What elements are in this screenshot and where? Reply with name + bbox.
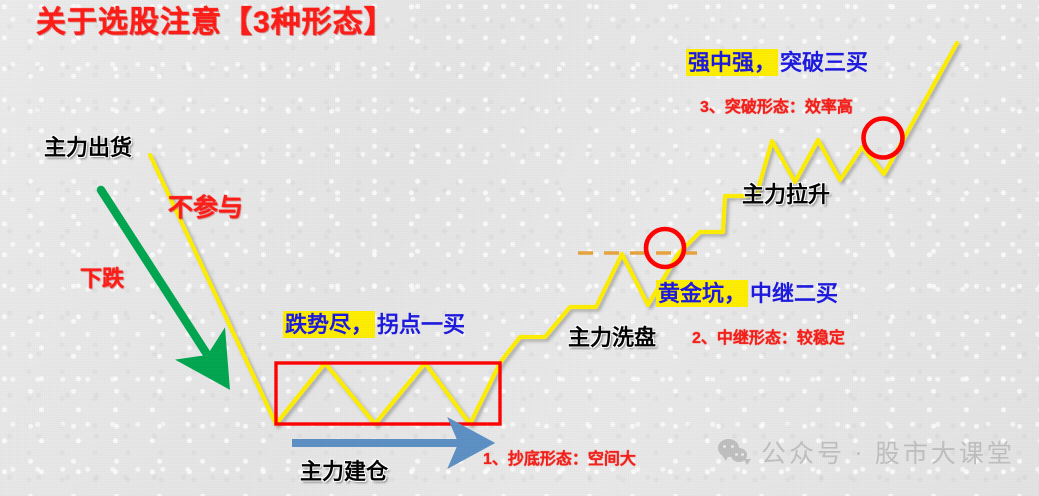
page-title: 关于选股注意【3种形态】: [36, 8, 395, 38]
second-buy-circle-icon: [646, 229, 684, 267]
callout-buy-three-plain: 突破三买: [778, 49, 870, 76]
callout-buy-two: 黄金坑，中继二买: [656, 283, 840, 305]
label-no-participation: 不参与: [168, 196, 243, 221]
label-markup: 主力拉升: [742, 184, 830, 206]
watermark: 公众号 · 股市大课堂: [718, 434, 1015, 470]
wechat-icon: [718, 439, 752, 465]
callout-buy-one-plain: 拐点一买: [375, 311, 467, 338]
label-decline: 下跌: [80, 268, 124, 290]
note-2: 2、中继形态：较稳定: [692, 331, 845, 347]
chart-graphics-layer: [0, 0, 1039, 496]
note-3: 3、突破形态：效率高: [700, 100, 853, 116]
callout-buy-three-highlight: 强中强，: [686, 49, 778, 76]
third-buy-circle-icon: [864, 119, 903, 158]
callout-buy-two-plain: 中继二买: [748, 280, 840, 307]
note-1: 1、抄底形态：空间大: [483, 452, 636, 468]
label-washout: 主力洗盘: [568, 327, 656, 349]
callout-buy-one-highlight: 跌势尽，: [283, 311, 375, 338]
callout-buy-two-highlight: 黄金坑，: [656, 280, 748, 307]
callout-buy-one: 跌势尽，拐点一买: [283, 314, 467, 336]
label-distribution: 主力出货: [44, 137, 132, 159]
watermark-text: 公众号 · 股市大课堂: [761, 434, 1015, 470]
callout-buy-three: 强中强，突破三买: [686, 52, 870, 74]
label-accumulation: 主力建仓: [300, 461, 388, 483]
accumulation-box: [276, 363, 500, 424]
chart-canvas: 关于选股注意【3种形态】 主力出货 不参与 下跌 跌势尽，拐点一买 主力建仓 1…: [0, 0, 1039, 496]
